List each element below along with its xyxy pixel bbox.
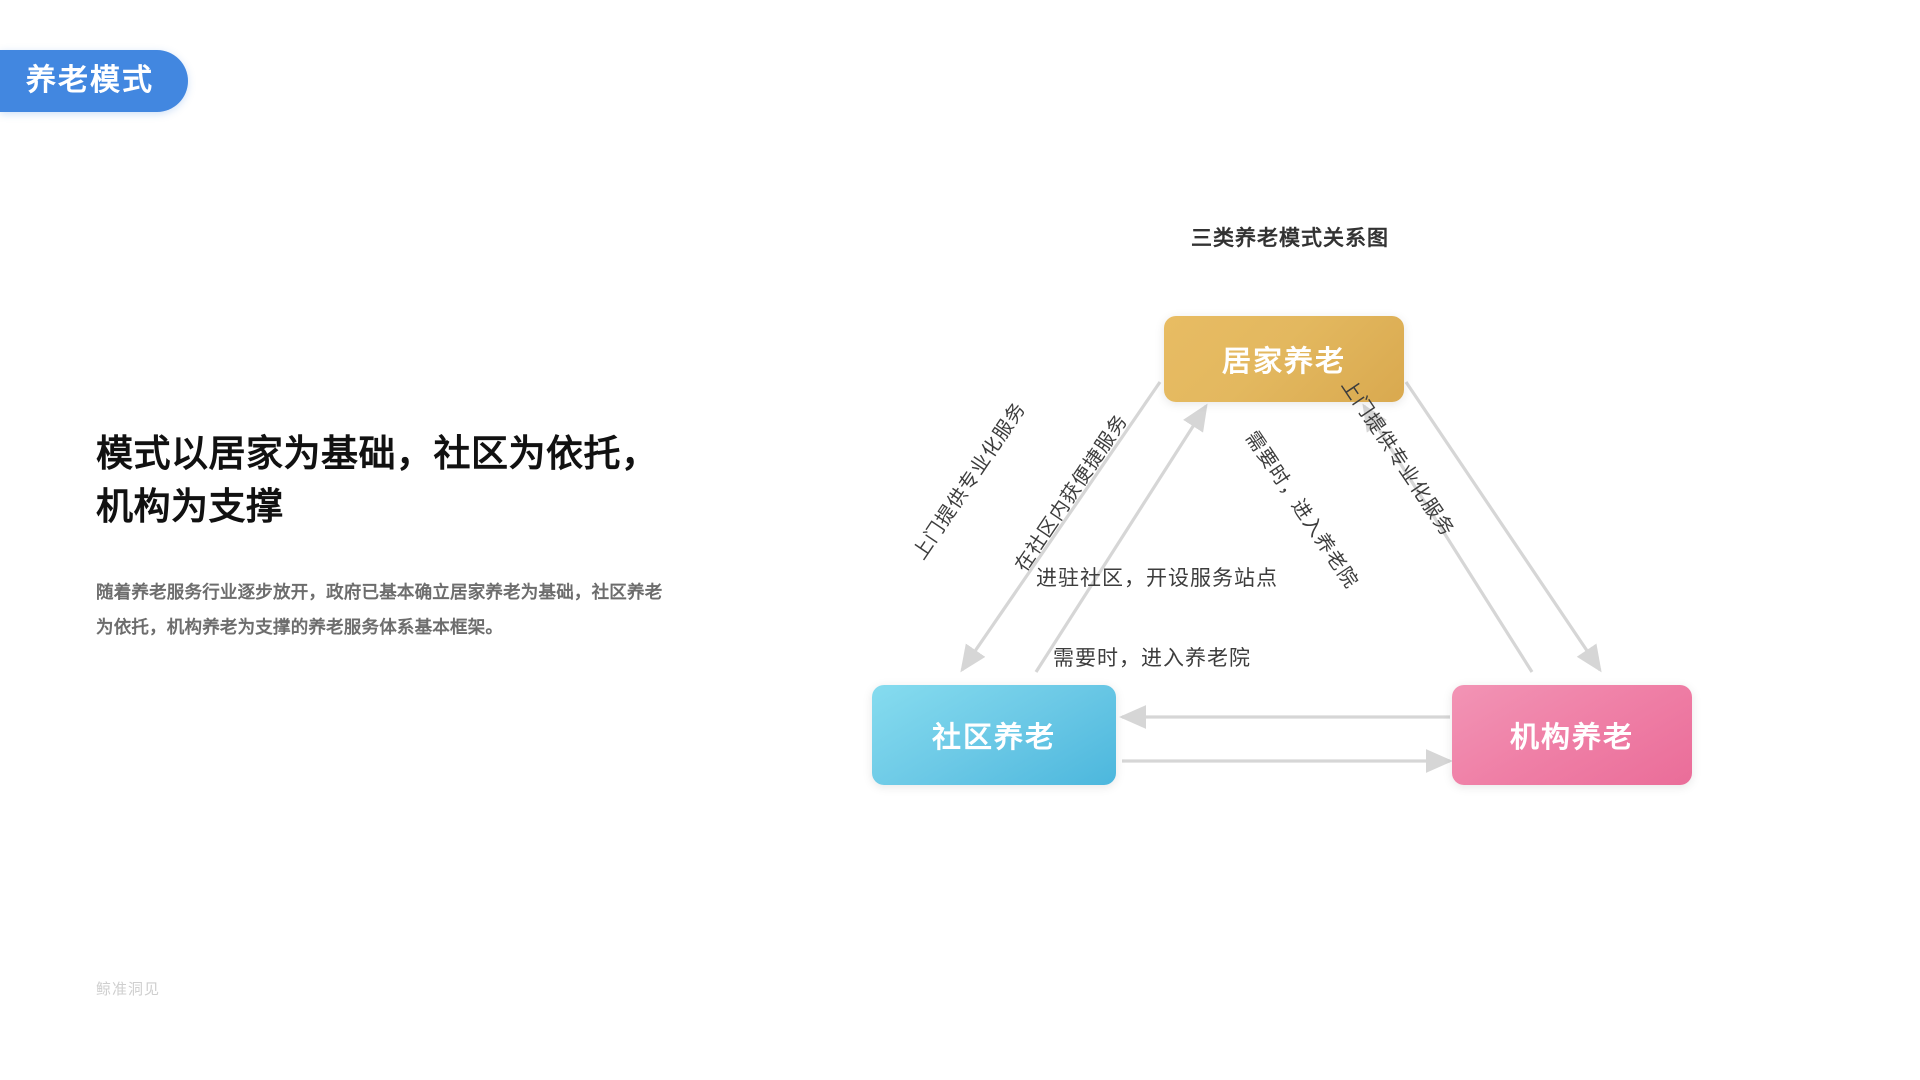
diagram-node-institution[interactable]: 机构养老	[1452, 685, 1692, 785]
section-badge: 养老模式	[0, 50, 188, 112]
left-text-column: 模式以居家为基础，社区为依托， 机构为支撑 随着养老服务行业逐步放开，政府已基本…	[96, 428, 716, 645]
edge-label-community-to-institution: 需要时，进入养老院	[1053, 642, 1251, 672]
diagram-node-community-label: 社区养老	[932, 714, 1056, 756]
diagram-node-institution-label: 机构养老	[1510, 714, 1634, 756]
diagram-node-community[interactable]: 社区养老	[872, 685, 1116, 785]
arrow-community-to-home	[1036, 406, 1206, 672]
watermark-label: 鲸准洞见	[96, 978, 160, 999]
page-headline: 模式以居家为基础，社区为依托， 机构为支撑	[96, 428, 716, 533]
diagram-node-home-label: 居家养老	[1222, 338, 1346, 380]
edge-label-institution-to-community: 进驻社区，开设服务站点	[1036, 562, 1278, 592]
relationship-diagram: 三类养老模式关系图 居家养老 社区养老 机构养老 上门提供专业化服务 在社区内获…	[840, 210, 1740, 830]
body-paragraph: 随着养老服务行业逐步放开，政府已基本确立居家养老为基础，社区养老为依托，机构养老…	[96, 575, 676, 645]
section-badge-label: 养老模式	[26, 66, 154, 96]
